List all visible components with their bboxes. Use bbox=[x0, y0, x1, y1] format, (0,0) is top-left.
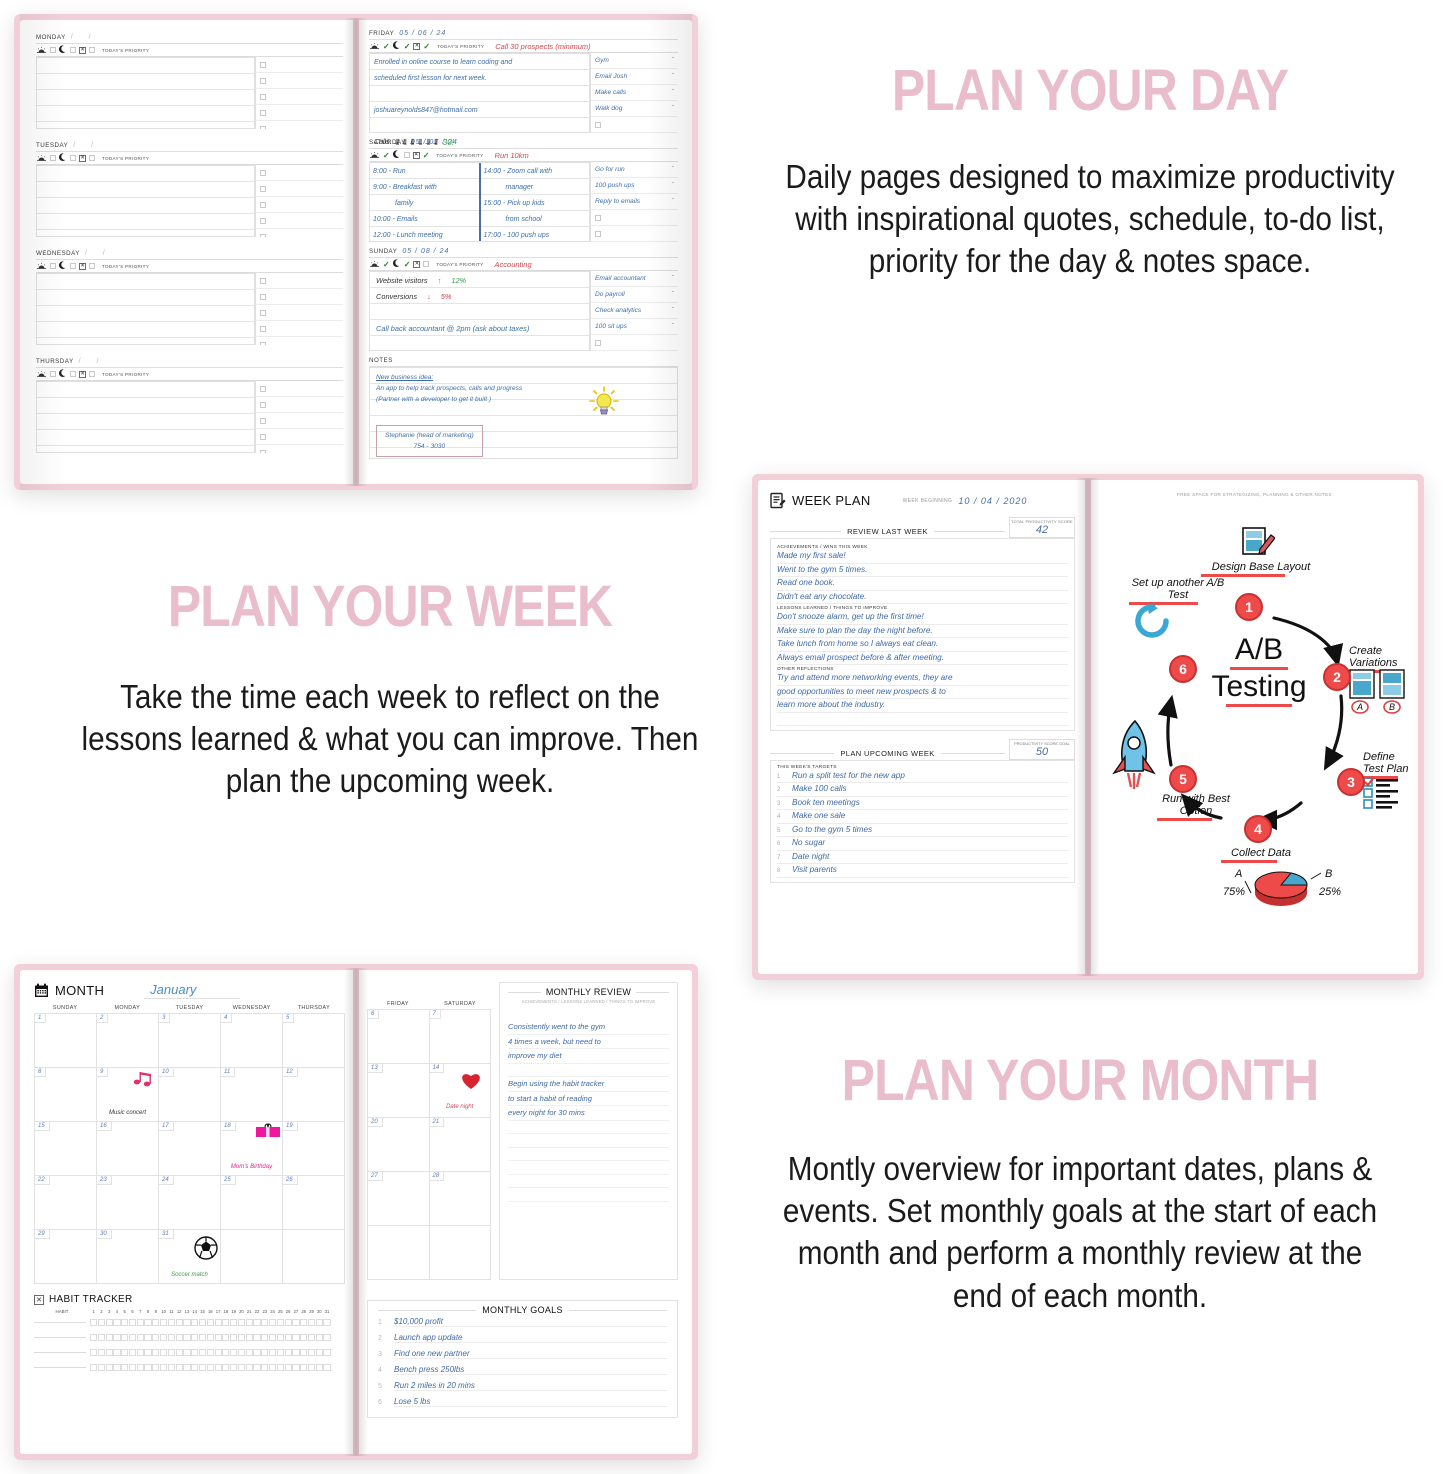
habit-checkbox[interactable] bbox=[98, 1364, 105, 1371]
todo-item-empty[interactable] bbox=[256, 105, 343, 121]
habit-checkbox[interactable] bbox=[308, 1319, 315, 1326]
saturday-schedule[interactable]: 8:00 - Run9:00 - Breakfast withfamily10:… bbox=[369, 162, 590, 242]
habit-checkbox[interactable] bbox=[90, 1364, 97, 1371]
calendar-cell[interactable]: 26 bbox=[283, 1176, 345, 1230]
todo-checkbox[interactable] bbox=[595, 231, 601, 237]
habit-checkbox[interactable] bbox=[113, 1364, 120, 1371]
calendar-cell[interactable]: 10 bbox=[159, 1068, 221, 1122]
habit-checkbox[interactable] bbox=[129, 1334, 136, 1341]
todo-item-empty[interactable] bbox=[591, 335, 678, 351]
review-blank-line[interactable] bbox=[508, 1161, 669, 1175]
chevron-down-icon[interactable]: ˇ bbox=[672, 101, 674, 117]
habit-checkbox[interactable] bbox=[222, 1319, 229, 1326]
calendar-cell[interactable]: 6 bbox=[368, 1010, 430, 1064]
habit-checkbox[interactable] bbox=[277, 1334, 284, 1341]
habit-checkbox[interactable] bbox=[160, 1334, 167, 1341]
day-writing-area[interactable] bbox=[36, 273, 343, 345]
todo-item[interactable]: Email accountantˇ bbox=[591, 271, 678, 287]
habit-checkbox[interactable] bbox=[168, 1349, 175, 1356]
exercise-checkbox[interactable] bbox=[423, 261, 429, 267]
habit-checkbox[interactable] bbox=[300, 1364, 307, 1371]
day-lines[interactable] bbox=[36, 165, 255, 237]
habit-checkbox[interactable] bbox=[168, 1364, 175, 1371]
day-writing-area[interactable] bbox=[36, 381, 343, 453]
morning-checkbox[interactable] bbox=[50, 263, 56, 269]
habit-checkbox[interactable] bbox=[121, 1349, 128, 1356]
todo-item-empty[interactable] bbox=[256, 381, 343, 397]
habit-checkbox[interactable] bbox=[106, 1364, 113, 1371]
habit-checkbox[interactable] bbox=[168, 1334, 175, 1341]
habit-checkbox[interactable] bbox=[199, 1364, 206, 1371]
habit-checkbox[interactable] bbox=[160, 1349, 167, 1356]
habit-checkbox[interactable] bbox=[144, 1364, 151, 1371]
habit-checkbox[interactable] bbox=[277, 1364, 284, 1371]
habit-checkbox[interactable] bbox=[98, 1349, 105, 1356]
habit-checkbox[interactable] bbox=[215, 1364, 222, 1371]
calendar-cell[interactable]: 13 bbox=[368, 1064, 430, 1118]
calendar-cell[interactable]: 25 bbox=[221, 1176, 283, 1230]
review-blank-line[interactable] bbox=[508, 1175, 669, 1189]
habit-checkbox[interactable] bbox=[106, 1319, 113, 1326]
habit-checkbox[interactable] bbox=[144, 1334, 151, 1341]
habit-checkbox[interactable] bbox=[316, 1334, 323, 1341]
habit-checkbox[interactable] bbox=[269, 1319, 276, 1326]
todo-item[interactable]: Check analyticsˇ bbox=[591, 303, 678, 319]
calendar-cell[interactable]: 30 bbox=[97, 1230, 159, 1284]
habit-checkbox[interactable] bbox=[199, 1349, 206, 1356]
habit-checkbox[interactable] bbox=[277, 1349, 284, 1356]
habit-checkbox[interactable] bbox=[285, 1334, 292, 1341]
todo-checkbox[interactable] bbox=[260, 310, 266, 316]
todo-item-empty[interactable] bbox=[256, 197, 343, 213]
day-date-blank[interactable]: / / bbox=[85, 250, 112, 257]
todo-item-empty[interactable] bbox=[256, 413, 343, 429]
habit-checkbox[interactable] bbox=[323, 1334, 330, 1341]
day-writing-area[interactable] bbox=[36, 57, 343, 129]
exercise-checkbox[interactable] bbox=[89, 263, 95, 269]
todo-item-empty[interactable] bbox=[256, 429, 343, 445]
chevron-down-icon[interactable]: ˇ bbox=[672, 162, 674, 178]
todo-item-empty[interactable] bbox=[591, 117, 678, 133]
x-box-icon: ✕ bbox=[34, 1295, 44, 1305]
habit-name-input[interactable] bbox=[34, 1337, 86, 1338]
habit-checkbox[interactable] bbox=[129, 1364, 136, 1371]
exercise-checkbox[interactable] bbox=[89, 47, 95, 53]
chevron-down-icon[interactable]: ˇ bbox=[672, 69, 674, 85]
todo-checkbox[interactable] bbox=[595, 215, 601, 221]
habit-checkbox[interactable] bbox=[137, 1349, 144, 1356]
habit-checkbox[interactable] bbox=[176, 1349, 183, 1356]
habit-checkbox[interactable] bbox=[323, 1349, 330, 1356]
todo-item[interactable]: Walk dogˇ bbox=[591, 101, 678, 117]
chevron-down-icon[interactable]: ˇ bbox=[672, 53, 674, 69]
habit-checkbox[interactable] bbox=[269, 1334, 276, 1341]
friday-notes[interactable]: Enrolled in online course to learn codin… bbox=[369, 53, 590, 133]
todo-checkbox[interactable] bbox=[260, 110, 266, 116]
habit-checkbox[interactable] bbox=[238, 1349, 245, 1356]
calendar-cell[interactable]: 14 Date night bbox=[430, 1064, 492, 1118]
todo-item-empty[interactable] bbox=[256, 229, 343, 237]
todo-item-empty[interactable] bbox=[256, 89, 343, 105]
habit-checkbox[interactable] bbox=[121, 1334, 128, 1341]
habit-checkbox-grid[interactable] bbox=[90, 1319, 331, 1326]
calendar-cell[interactable]: 21 bbox=[430, 1118, 492, 1172]
week-beginning-date[interactable]: 10 / 04 / 2020 bbox=[958, 496, 1027, 506]
habit-checkbox[interactable] bbox=[106, 1349, 113, 1356]
x-box-icon[interactable]: ✕ bbox=[79, 155, 86, 162]
habit-checkbox[interactable] bbox=[160, 1319, 167, 1326]
calendar-cell[interactable]: 24 bbox=[159, 1176, 221, 1230]
habit-checkbox[interactable] bbox=[207, 1349, 214, 1356]
habit-checkbox[interactable] bbox=[191, 1364, 198, 1371]
habit-checkbox[interactable] bbox=[121, 1319, 128, 1326]
habit-checkbox[interactable] bbox=[137, 1364, 144, 1371]
habit-checkbox[interactable] bbox=[183, 1364, 190, 1371]
sunday-notes[interactable]: Website visitors↑12%Conversions↓5%Call b… bbox=[369, 271, 590, 351]
habit-checkbox[interactable] bbox=[199, 1334, 206, 1341]
calendar-cell[interactable]: 18 Mom's Birthday bbox=[221, 1122, 283, 1176]
todo-checkbox[interactable] bbox=[595, 122, 601, 128]
day-date-blank[interactable]: / / bbox=[73, 142, 100, 149]
habit-name-input[interactable] bbox=[34, 1322, 86, 1323]
habit-checkbox[interactable] bbox=[285, 1319, 292, 1326]
evening-checkbox[interactable] bbox=[70, 47, 76, 53]
habit-checkbox[interactable] bbox=[230, 1334, 237, 1341]
calendar-cell[interactable] bbox=[368, 1226, 430, 1280]
habit-checkbox-grid[interactable] bbox=[90, 1334, 331, 1341]
todo-checkbox[interactable] bbox=[260, 202, 266, 208]
habit-name-input[interactable] bbox=[34, 1367, 86, 1368]
day-lines[interactable] bbox=[36, 381, 255, 453]
habit-checkbox[interactable] bbox=[98, 1319, 105, 1326]
habit-checkbox[interactable] bbox=[137, 1319, 144, 1326]
todo-item-empty[interactable] bbox=[256, 321, 343, 337]
todo-item[interactable]: 100 push upsˇ bbox=[591, 178, 678, 194]
habit-checkbox[interactable] bbox=[246, 1319, 253, 1326]
x-box-icon[interactable]: ✕ bbox=[79, 263, 86, 270]
habit-checkbox[interactable] bbox=[215, 1334, 222, 1341]
calendar-cell[interactable]: 22 bbox=[35, 1176, 97, 1230]
habit-checkbox[interactable] bbox=[292, 1319, 299, 1326]
habit-checkbox[interactable] bbox=[308, 1349, 315, 1356]
habit-checkbox[interactable] bbox=[129, 1319, 136, 1326]
habit-checkbox[interactable] bbox=[176, 1319, 183, 1326]
todo-checkbox[interactable] bbox=[260, 418, 266, 424]
todo-item[interactable]: Email Joshˇ bbox=[591, 69, 678, 85]
habit-checkbox[interactable] bbox=[152, 1334, 159, 1341]
todo-checkbox[interactable] bbox=[260, 294, 266, 300]
todo-item[interactable]: Reply to emailsˇ bbox=[591, 194, 678, 210]
chevron-down-icon[interactable]: ˇ bbox=[672, 194, 674, 210]
day-writing-area[interactable] bbox=[36, 165, 343, 237]
habit-checkbox[interactable] bbox=[207, 1334, 214, 1341]
todo-item[interactable]: Do payrollˇ bbox=[591, 287, 678, 303]
habit-checkbox-grid[interactable] bbox=[90, 1349, 331, 1356]
x-box-icon[interactable]: ✕ bbox=[413, 261, 420, 268]
habit-row[interactable] bbox=[34, 1330, 345, 1345]
calendar-cell[interactable]: 16 bbox=[97, 1122, 159, 1176]
habit-checkbox[interactable] bbox=[246, 1334, 253, 1341]
chevron-down-icon[interactable]: ˇ bbox=[672, 178, 674, 194]
habit-checkbox[interactable] bbox=[323, 1364, 330, 1371]
habit-checkbox[interactable] bbox=[261, 1349, 268, 1356]
todo-item-empty[interactable] bbox=[256, 213, 343, 229]
habit-checkbox[interactable] bbox=[90, 1349, 97, 1356]
todo-item-empty[interactable] bbox=[256, 57, 343, 73]
habit-checkbox[interactable] bbox=[90, 1319, 97, 1326]
habit-checkbox[interactable] bbox=[215, 1349, 222, 1356]
habit-checkbox[interactable] bbox=[246, 1349, 253, 1356]
review-panel[interactable]: ACHIEVEMENTS / WINS THIS WEEKMade my fir… bbox=[770, 538, 1075, 731]
habit-checkbox[interactable] bbox=[230, 1319, 237, 1326]
evening-checkbox[interactable] bbox=[70, 155, 76, 161]
habit-checkbox[interactable] bbox=[246, 1364, 253, 1371]
todo-checkbox[interactable] bbox=[260, 126, 266, 130]
monthly-goals-panel[interactable]: MONTHLY GOALS 1$10,000 profit2Launch app… bbox=[367, 1300, 678, 1418]
todo-item-empty[interactable] bbox=[256, 165, 343, 181]
todo-item[interactable]: Make callsˇ bbox=[591, 85, 678, 101]
habit-checkbox[interactable] bbox=[113, 1319, 120, 1326]
calendar-cell[interactable]: 15 bbox=[35, 1122, 97, 1176]
calendar-cell[interactable]: 1 bbox=[35, 1014, 97, 1068]
review-blank-line[interactable] bbox=[508, 1134, 669, 1148]
todo-item-empty[interactable] bbox=[256, 181, 343, 197]
calendar-cell[interactable]: 8 bbox=[35, 1068, 97, 1122]
habit-checkbox-grid[interactable] bbox=[90, 1364, 331, 1371]
chevron-down-icon[interactable]: ˇ bbox=[672, 287, 674, 303]
habit-checkbox[interactable] bbox=[316, 1319, 323, 1326]
todo-checkbox[interactable] bbox=[260, 278, 266, 284]
calendar-cell[interactable]: 31 Soccer match bbox=[159, 1230, 221, 1284]
habit-checkbox[interactable] bbox=[292, 1334, 299, 1341]
calendar-cell[interactable] bbox=[430, 1226, 492, 1280]
calendar-cell[interactable]: 28 bbox=[430, 1172, 492, 1226]
habit-checkbox[interactable] bbox=[253, 1349, 260, 1356]
habit-checkbox[interactable] bbox=[261, 1364, 268, 1371]
habit-checkbox[interactable] bbox=[144, 1319, 151, 1326]
habit-checkbox[interactable] bbox=[238, 1319, 245, 1326]
x-box-icon[interactable]: ✕ bbox=[79, 47, 86, 54]
x-box-icon[interactable]: ✕ bbox=[79, 371, 86, 378]
goal-value[interactable]: 50 bbox=[1011, 746, 1073, 758]
todo-checkbox[interactable] bbox=[260, 326, 266, 332]
habit-checkbox[interactable] bbox=[176, 1364, 183, 1371]
calendar-cell[interactable]: 11 bbox=[221, 1068, 283, 1122]
todo-checkbox[interactable] bbox=[595, 340, 601, 346]
calendar-cell[interactable]: 23 bbox=[97, 1176, 159, 1230]
evening-checkbox[interactable] bbox=[404, 152, 410, 158]
habit-checkbox[interactable] bbox=[183, 1349, 190, 1356]
habit-checkbox[interactable] bbox=[238, 1334, 245, 1341]
habit-name-input[interactable] bbox=[34, 1352, 86, 1353]
habit-checkbox[interactable] bbox=[160, 1364, 167, 1371]
habit-row[interactable] bbox=[34, 1360, 345, 1375]
day-lines[interactable] bbox=[36, 273, 255, 345]
review-blank-line[interactable] bbox=[508, 1188, 669, 1202]
habit-checkbox[interactable] bbox=[277, 1319, 284, 1326]
habit-row[interactable] bbox=[34, 1345, 345, 1360]
exercise-checkbox[interactable] bbox=[89, 155, 95, 161]
todo-item[interactable]: Go for runˇ bbox=[591, 162, 678, 178]
calendar-cell[interactable]: 4 bbox=[221, 1014, 283, 1068]
score-value[interactable]: 42 bbox=[1011, 524, 1073, 536]
todo-checkbox[interactable] bbox=[260, 94, 266, 100]
habit-checkbox[interactable] bbox=[113, 1334, 120, 1341]
habit-checkbox[interactable] bbox=[222, 1364, 229, 1371]
habit-checkbox[interactable] bbox=[113, 1349, 120, 1356]
calendar-cell[interactable]: 2 bbox=[97, 1014, 159, 1068]
todo-item[interactable]: Gymˇ bbox=[591, 53, 678, 69]
todo-item[interactable]: 100 sit upsˇ bbox=[591, 319, 678, 335]
habit-checkbox[interactable] bbox=[222, 1349, 229, 1356]
habit-checkbox[interactable] bbox=[316, 1349, 323, 1356]
todo-checkbox[interactable] bbox=[260, 402, 266, 408]
habit-checkbox[interactable] bbox=[168, 1319, 175, 1326]
calendar-cell[interactable] bbox=[221, 1230, 283, 1284]
habit-checkbox[interactable] bbox=[207, 1319, 214, 1326]
targets-panel[interactable]: THIS WEEK'S TARGETS1Run a split test for… bbox=[770, 760, 1075, 883]
todo-checkbox[interactable] bbox=[260, 186, 266, 192]
habit-row[interactable] bbox=[34, 1315, 345, 1330]
evening-checkbox[interactable] bbox=[70, 263, 76, 269]
habit-checkbox[interactable] bbox=[137, 1334, 144, 1341]
todo-checkbox[interactable] bbox=[260, 62, 266, 68]
habit-checkbox[interactable] bbox=[253, 1319, 260, 1326]
calendar-cell[interactable]: 3 bbox=[159, 1014, 221, 1068]
habit-checkbox[interactable] bbox=[98, 1334, 105, 1341]
habit-checkbox[interactable] bbox=[106, 1334, 113, 1341]
calendar-cell[interactable] bbox=[283, 1230, 345, 1284]
habit-checkbox[interactable] bbox=[308, 1364, 315, 1371]
todo-item-empty[interactable] bbox=[256, 397, 343, 413]
habit-checkbox[interactable] bbox=[285, 1349, 292, 1356]
habit-checkbox[interactable] bbox=[269, 1364, 276, 1371]
todo-checkbox[interactable] bbox=[260, 342, 266, 346]
calendar-cell[interactable]: 20 bbox=[368, 1118, 430, 1172]
review-blank-line[interactable] bbox=[508, 1121, 669, 1135]
chevron-down-icon[interactable]: ˇ bbox=[672, 271, 674, 287]
habit-checkbox[interactable] bbox=[253, 1334, 260, 1341]
habit-checkbox[interactable] bbox=[300, 1334, 307, 1341]
habit-checkbox[interactable] bbox=[230, 1364, 237, 1371]
habit-checkbox[interactable] bbox=[253, 1364, 260, 1371]
todo-checkbox[interactable] bbox=[260, 450, 266, 454]
x-box-icon[interactable]: ✕ bbox=[413, 43, 420, 50]
morning-checkbox[interactable] bbox=[50, 371, 56, 377]
notes-body[interactable]: New business idea:An app to help track p… bbox=[369, 367, 678, 459]
todo-checkbox[interactable] bbox=[260, 434, 266, 440]
chevron-down-icon[interactable]: ˇ bbox=[672, 303, 674, 319]
calendar-cell[interactable]: 7 bbox=[430, 1010, 492, 1064]
habit-checkbox[interactable] bbox=[215, 1319, 222, 1326]
habit-checkbox[interactable] bbox=[121, 1364, 128, 1371]
review-blank-line[interactable] bbox=[508, 1148, 669, 1162]
habit-checkbox[interactable] bbox=[152, 1349, 159, 1356]
habit-checkbox[interactable] bbox=[152, 1319, 159, 1326]
habit-checkbox[interactable] bbox=[230, 1349, 237, 1356]
todo-item-empty[interactable] bbox=[591, 210, 678, 226]
habit-checkbox[interactable] bbox=[90, 1334, 97, 1341]
chevron-down-icon[interactable]: ˇ bbox=[672, 319, 674, 335]
habit-checkbox[interactable] bbox=[176, 1334, 183, 1341]
habit-checkbox[interactable] bbox=[191, 1349, 198, 1356]
day-date[interactable]: 05 / 06 / 24 bbox=[399, 30, 446, 37]
habit-checkbox[interactable] bbox=[316, 1364, 323, 1371]
habit-checkbox[interactable] bbox=[308, 1334, 315, 1341]
habit-checkbox[interactable] bbox=[323, 1319, 330, 1326]
habit-checkbox[interactable] bbox=[152, 1364, 159, 1371]
todo-checkbox[interactable] bbox=[260, 170, 266, 176]
day-date[interactable]: 05 / 08 / 24 bbox=[402, 248, 449, 255]
day-date-blank[interactable]: / / bbox=[71, 34, 98, 41]
habit-checkbox[interactable] bbox=[183, 1334, 190, 1341]
todo-item-empty[interactable] bbox=[256, 289, 343, 305]
habit-checkbox[interactable] bbox=[300, 1349, 307, 1356]
habit-checkbox[interactable] bbox=[199, 1319, 206, 1326]
exercise-checkbox[interactable] bbox=[89, 371, 95, 377]
day-date-blank[interactable]: / / bbox=[79, 358, 106, 365]
calendar-cell[interactable]: 9 Music concert bbox=[97, 1068, 159, 1122]
todo-checkbox[interactable] bbox=[260, 234, 266, 238]
habit-checkbox[interactable] bbox=[285, 1364, 292, 1371]
blank-line[interactable] bbox=[777, 713, 1068, 726]
todo-item-empty[interactable] bbox=[256, 73, 343, 89]
habit-checkbox[interactable] bbox=[144, 1349, 151, 1356]
productivity-score-goal-box[interactable]: PRODUCTIVITY SCORE GOAL 50 bbox=[1009, 739, 1075, 760]
habit-checkbox[interactable] bbox=[222, 1334, 229, 1341]
habit-checkbox[interactable] bbox=[207, 1364, 214, 1371]
morning-checkbox[interactable] bbox=[50, 47, 56, 53]
morning-checkbox[interactable] bbox=[50, 155, 56, 161]
habit-checkbox[interactable] bbox=[292, 1349, 299, 1356]
month-name[interactable]: January bbox=[144, 982, 240, 999]
habit-checkbox[interactable] bbox=[269, 1349, 276, 1356]
habit-checkbox[interactable] bbox=[183, 1319, 190, 1326]
habit-day-number: 17 bbox=[215, 1309, 222, 1314]
calendar-cell[interactable]: 5 bbox=[283, 1014, 345, 1068]
todo-item-empty[interactable] bbox=[256, 445, 343, 453]
calendar-cell[interactable]: 12 bbox=[283, 1068, 345, 1122]
todo-item-empty[interactable] bbox=[591, 226, 678, 242]
habit-checkbox[interactable] bbox=[191, 1334, 198, 1341]
todo-checkbox[interactable] bbox=[260, 386, 266, 392]
habit-checkbox[interactable] bbox=[292, 1364, 299, 1371]
total-productivity-score-box[interactable]: TOTAL PRODUCTIVITY SCORE 42 bbox=[1009, 517, 1075, 538]
calendar-cell[interactable]: 19 bbox=[283, 1122, 345, 1176]
todo-item-empty[interactable] bbox=[256, 305, 343, 321]
habit-checkbox[interactable] bbox=[300, 1319, 307, 1326]
calendar-cell[interactable]: 27 bbox=[368, 1172, 430, 1226]
todo-item-empty[interactable] bbox=[256, 273, 343, 289]
chevron-down-icon[interactable]: ˇ bbox=[672, 85, 674, 101]
todo-item-empty[interactable] bbox=[256, 121, 343, 129]
calendar-cell[interactable]: 17 bbox=[159, 1122, 221, 1176]
day-lines[interactable] bbox=[36, 57, 255, 129]
habit-checkbox[interactable] bbox=[261, 1319, 268, 1326]
habit-checkbox[interactable] bbox=[191, 1319, 198, 1326]
todo-checkbox[interactable] bbox=[260, 78, 266, 84]
habit-checkbox[interactable] bbox=[129, 1349, 136, 1356]
monthly-review-text[interactable]: Consistently went to the gym4 times a we… bbox=[508, 1020, 669, 1202]
todo-checkbox[interactable] bbox=[260, 218, 266, 224]
habit-checkbox[interactable] bbox=[261, 1334, 268, 1341]
monthly-review-panel[interactable]: MONTHLY REVIEW ACHIEVEMENTS / LESSONS LE… bbox=[499, 982, 678, 1280]
habit-checkbox[interactable] bbox=[238, 1364, 245, 1371]
calendar-cell[interactable]: 29 bbox=[35, 1230, 97, 1284]
todo-item-empty[interactable] bbox=[256, 337, 343, 345]
x-box-icon[interactable]: ✕ bbox=[413, 152, 420, 159]
evening-checkbox[interactable] bbox=[70, 371, 76, 377]
